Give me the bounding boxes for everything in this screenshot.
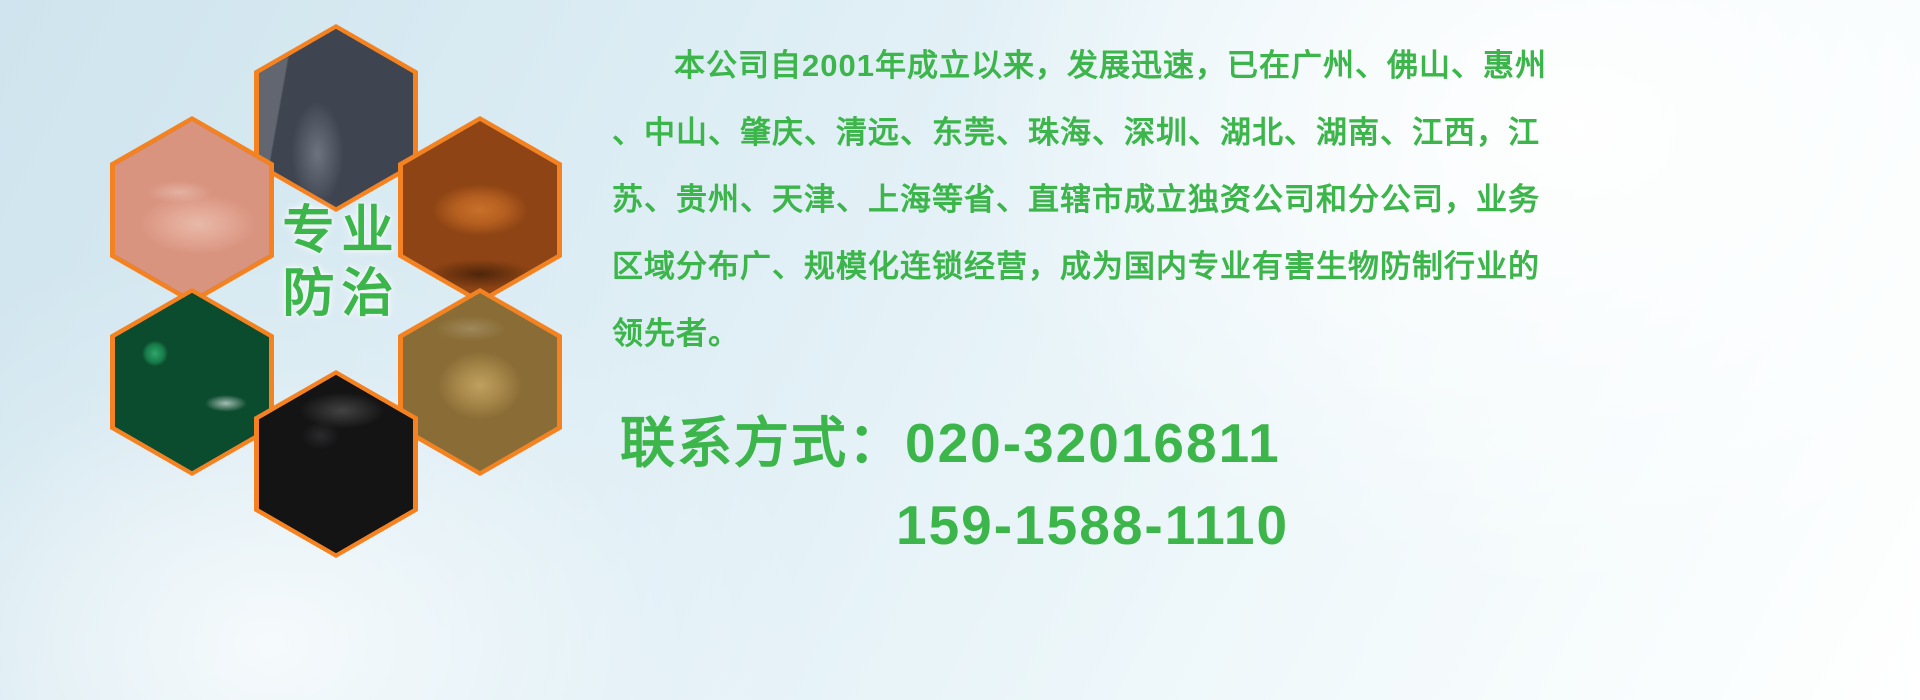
description-line-1: 本公司自2001年成立以来，发展迅速，已在广州、佛山、惠州 [612,38,1902,93]
slogan-line-2: 防治 [248,263,428,326]
contact-mobile[interactable]: 159-1588-1110 [620,484,1860,566]
hex-photo-frame [115,121,269,299]
company-description: 本公司自2001年成立以来，发展迅速，已在广州、佛山、惠州 、中山、肇庆、清远、… [612,38,1902,373]
hex-cell-ant [254,370,418,558]
promo-banner: 专业 防治 本公司自2001年成立以来，发展迅速，已在广州、佛山、惠州 、中山、… [0,0,1920,700]
description-line-5: 领先者。 [612,306,1902,361]
hex-photo-frame [259,375,413,553]
mosquito-photo [115,121,269,299]
description-line-2: 、中山、肇庆、清远、东莞、珠海、深圳、湖北、湖南、江西，江 [612,105,1902,160]
ant-photo [259,375,413,553]
hex-photo-frame [259,29,413,207]
description-line-3: 苏、贵州、天津、上海等省、直辖市成立独资公司和分公司，业务 [612,172,1902,227]
hex-photo-frame [115,293,269,471]
slogan-block: 专业 防治 [248,200,428,327]
flies-photo [115,293,269,471]
hex-cell-rats [254,24,418,212]
slogan-line-1: 专业 [248,200,428,263]
contact-block: 联系方式：020-32016811 159-1588-1110 [620,402,1860,566]
contact-landline[interactable]: 联系方式：020-32016811 [620,402,1860,484]
rats-photo [259,29,413,207]
description-line-4: 区域分布广、规模化连锁经营，成为国内专业有害生物防制行业的 [612,239,1902,294]
